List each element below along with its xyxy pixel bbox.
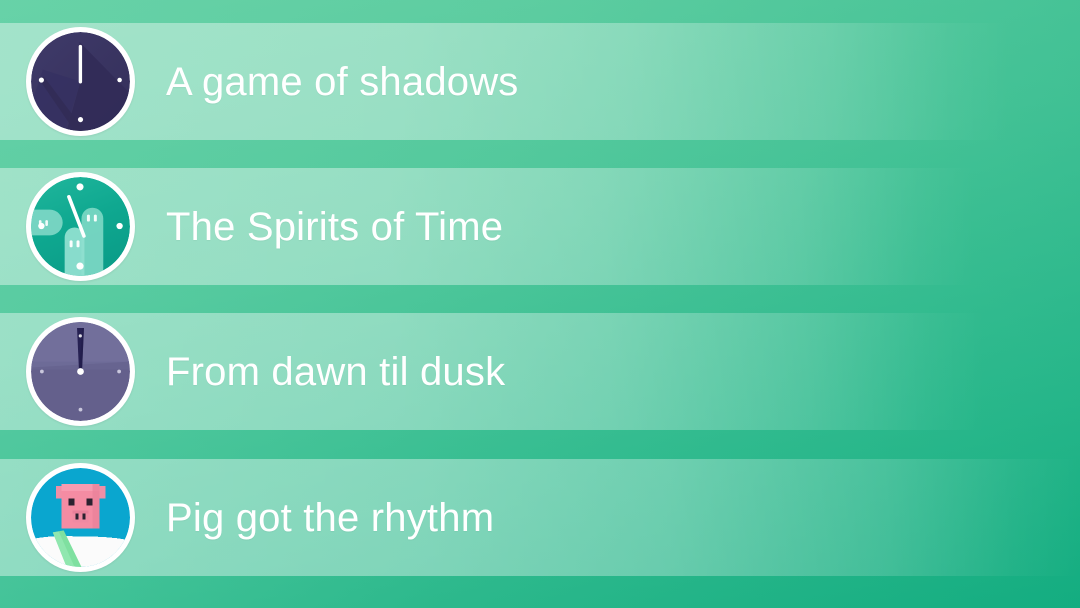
list-item[interactable]: The Spirits of Time <box>0 168 1080 285</box>
clock-pig-icon <box>31 468 130 567</box>
list-item-title: Pig got the rhythm <box>166 498 494 538</box>
list-item[interactable]: Pig got the rhythm <box>0 459 1080 576</box>
list-item[interactable]: A game of shadows <box>0 23 1080 140</box>
avatar[interactable] <box>26 317 135 426</box>
avatar[interactable] <box>26 172 135 281</box>
avatar[interactable] <box>26 27 135 136</box>
list-item-title: From dawn til dusk <box>166 352 505 392</box>
clock-dawn-dusk-icon <box>31 322 130 421</box>
theme-list: A game of shadows <box>0 0 1080 608</box>
avatar[interactable] <box>26 463 135 572</box>
clock-spirits-icon <box>31 177 130 276</box>
clock-shadows-icon <box>31 32 130 131</box>
list-item-title: A game of shadows <box>166 62 519 102</box>
row-highlight-strip <box>0 459 1080 576</box>
list-item-title: The Spirits of Time <box>166 207 503 247</box>
clock-theme-list-screen: A game of shadows <box>0 0 1080 608</box>
list-item[interactable]: From dawn til dusk <box>0 313 1080 430</box>
